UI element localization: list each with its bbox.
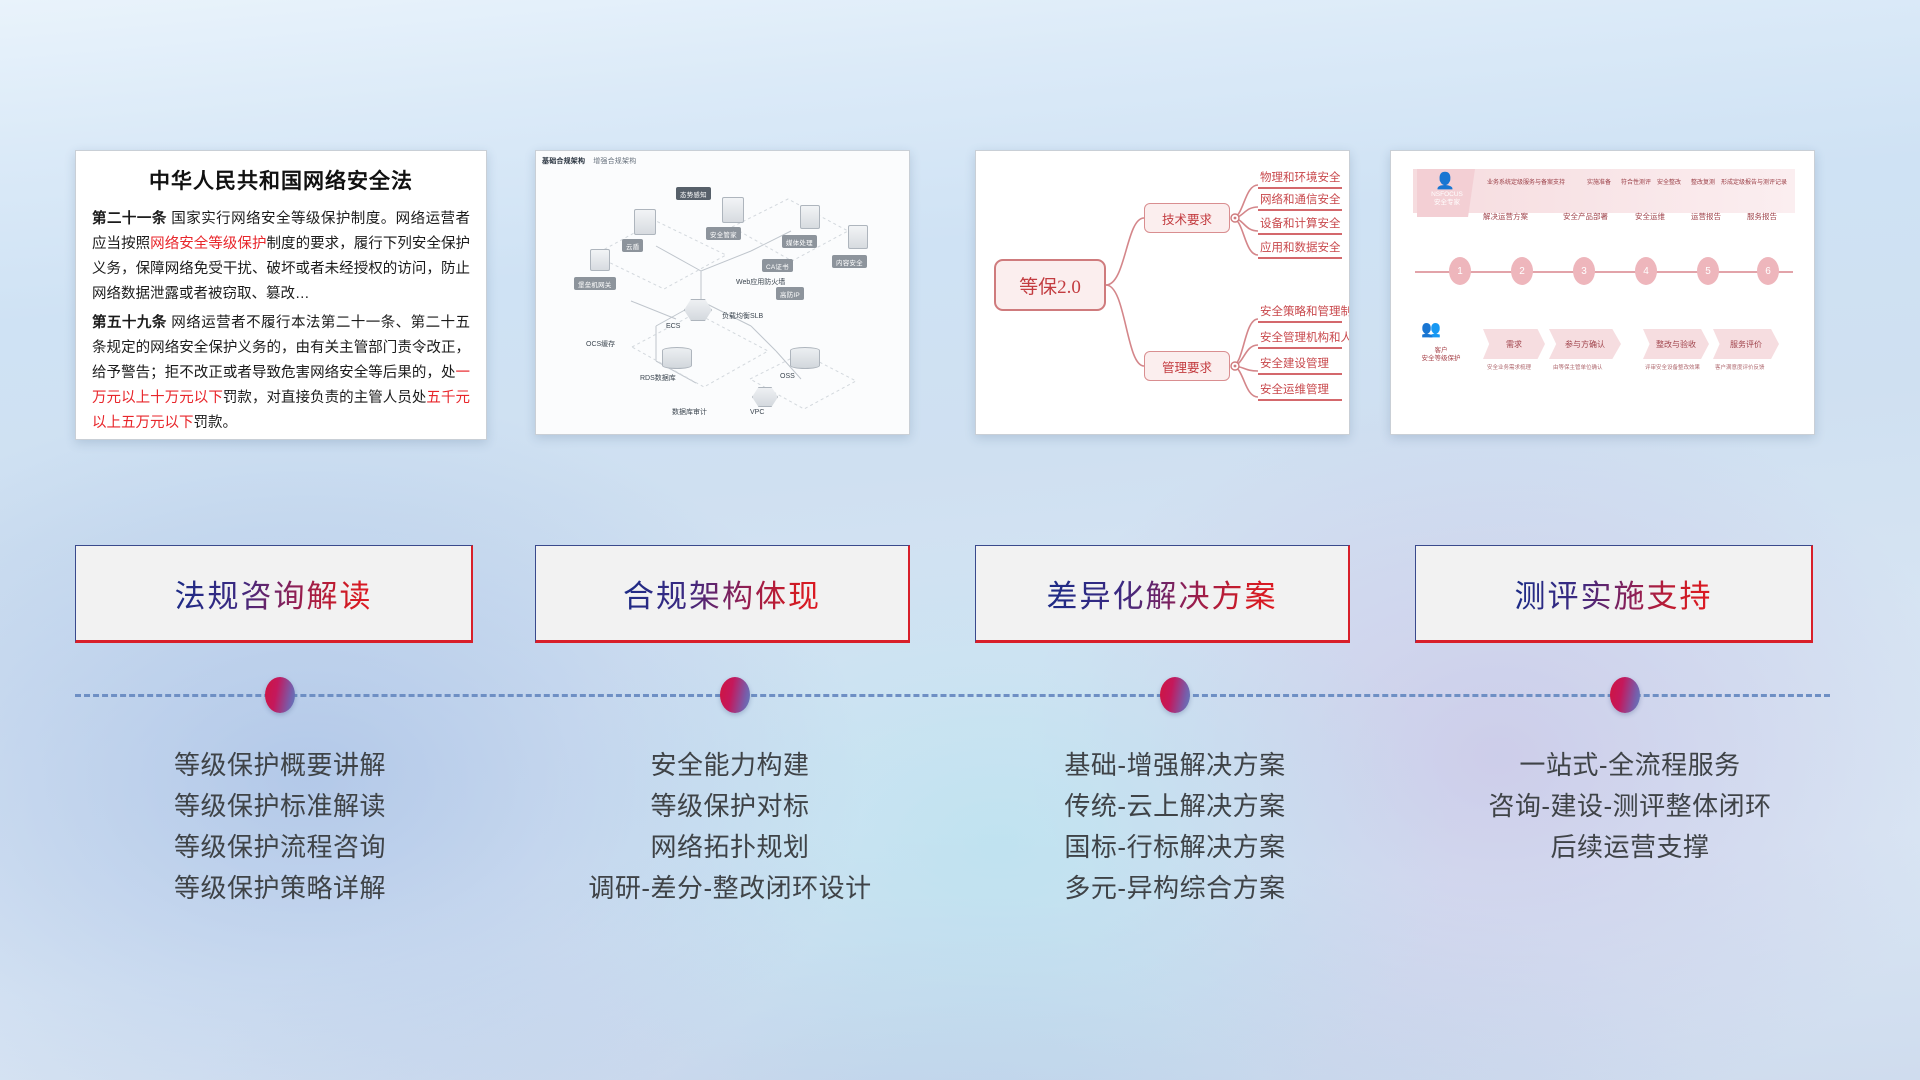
roadmap-top-header: 实施准备 bbox=[1587, 177, 1611, 186]
architecture-node-label: 负载均衡SLB bbox=[722, 311, 763, 321]
mindmap-leaf: 安全建设管理 bbox=[1260, 359, 1329, 371]
headline-label-1: 法规咨询解读 bbox=[175, 571, 373, 616]
roadmap-stage-label: 安全产品部署 bbox=[1563, 211, 1608, 222]
mindmap-root-node: 等保2.0 bbox=[994, 259, 1106, 311]
headline-label-4: 测评实施支持 bbox=[1515, 571, 1713, 616]
roadmap-step-number: 6 bbox=[1757, 257, 1779, 285]
roadmap-chevron-sub: 客户满意度评价反馈 bbox=[1715, 363, 1765, 371]
roadmap-chevron-sub: 评审安全设备整改效果 bbox=[1645, 363, 1700, 371]
roadmap-step-number: 1 bbox=[1449, 257, 1471, 285]
law-article-59-text-after: 罚款。 bbox=[194, 415, 238, 431]
mindmap-leaf: 物理和环境安全 bbox=[1260, 173, 1341, 185]
timeline-dot-4[interactable] bbox=[1610, 677, 1640, 713]
headline-label-3: 差异化解决方案 bbox=[1047, 571, 1278, 616]
timeline-dashed-line bbox=[75, 694, 1830, 697]
timeline-dot-3[interactable] bbox=[1160, 677, 1190, 713]
timeline-dot-2[interactable] bbox=[720, 677, 750, 713]
architecture-tab-active: 基础合规架构 bbox=[542, 158, 585, 165]
list-item: 等级保护流程咨询 bbox=[60, 827, 500, 868]
person-icon: 👤 bbox=[1435, 171, 1455, 191]
mindmap-leaf-underline bbox=[1258, 187, 1342, 189]
detail-column-4: 一站式-全流程服务 咨询-建设-测评整体闭环 后续运营支撑 bbox=[1400, 745, 1860, 868]
roadmap-chevron-sub: 由等保主管单位确认 bbox=[1553, 363, 1603, 371]
mindmap: 等保2.0 技术要求 管理要求 物理和环境安全 网络和通信安全 设备和计算安全 … bbox=[976, 151, 1349, 434]
list-item: 等级保护标准解读 bbox=[60, 786, 500, 827]
mindmap-leaf: 安全策略和管理制度 bbox=[1260, 307, 1350, 319]
architecture-chip bbox=[722, 197, 744, 223]
timeline bbox=[75, 694, 1830, 698]
list-item: 一站式-全流程服务 bbox=[1400, 745, 1860, 786]
roadmap-chevron: 需求 bbox=[1483, 329, 1545, 359]
mindmap-leaf: 安全管理机构和人员 bbox=[1260, 333, 1350, 345]
mindmap-leaf: 安全运维管理 bbox=[1260, 385, 1329, 397]
headline-box-4[interactable]: 测评实施支持 bbox=[1415, 545, 1813, 643]
list-item: 咨询-建设-测评整体闭环 bbox=[1400, 786, 1860, 827]
architecture-node-tag: 安全管家 bbox=[706, 227, 741, 240]
law-article-21-highlight: 网络安全等级保护 bbox=[150, 236, 266, 252]
list-item: 安全能力构建 bbox=[510, 745, 950, 786]
law-card-body: 中华人民共和国网络安全法 第二十一条 国家实行网络安全等级保护制度。网络运营者应… bbox=[76, 151, 486, 440]
law-article-21-number: 第二十一条 bbox=[92, 211, 167, 227]
architecture-node-tag: CA证书 bbox=[762, 259, 793, 272]
roadmap-chevron: 参与方确认 bbox=[1549, 329, 1621, 359]
mindmap-leaf-underline bbox=[1258, 399, 1342, 401]
roadmap-brand: NSFOCUS 安全专家 bbox=[1421, 191, 1473, 207]
roadmap-step-number: 2 bbox=[1511, 257, 1533, 285]
headline-label-2: 合规架构体现 bbox=[623, 571, 821, 616]
roadmap-brand-name: NSFOCUS bbox=[1431, 191, 1463, 198]
roadmap-persona-client: 客户 安全等级保护 bbox=[1413, 347, 1469, 363]
architecture-db-node bbox=[662, 347, 692, 369]
architecture-node-tag: 媒体处理 bbox=[782, 235, 817, 248]
roadmap-top-header: 整改复测 bbox=[1691, 177, 1715, 186]
list-item: 多元-异构综合方案 bbox=[955, 868, 1395, 909]
mindmap-leaf: 设备和计算安全 bbox=[1260, 219, 1341, 231]
architecture-node-label: OCS缓存 bbox=[586, 339, 615, 349]
roadmap-chevron: 服务评价 bbox=[1713, 329, 1779, 359]
detail-column-3: 基础-增强解决方案 传统-云上解决方案 国标-行标解决方案 多元-异构综合方案 bbox=[955, 745, 1395, 909]
law-article-59-text-mid: 罚款，对直接负责的主管人员处 bbox=[223, 390, 427, 406]
roadmap-axis bbox=[1415, 271, 1793, 273]
roadmap-top-header: 符合性测评 bbox=[1621, 177, 1651, 186]
architecture-chip bbox=[800, 205, 820, 229]
roadmap-brand-sub: 安全专家 bbox=[1434, 199, 1460, 206]
roadmap-chevron: 整改与验收 bbox=[1643, 329, 1709, 359]
roadmap-step-number: 4 bbox=[1635, 257, 1657, 285]
law-article-21: 第二十一条 国家实行网络安全等级保护制度。网络运营者应当按照网络安全等级保护制度… bbox=[92, 207, 470, 307]
architecture-node-label: VPC bbox=[750, 409, 764, 416]
roadmap-chevron-sub: 安全业务需求梳理 bbox=[1487, 363, 1531, 371]
roadmap-diagram: 👤 NSFOCUS 安全专家 业务系统定级服务与备案支持 实施准备 符合性测评 … bbox=[1391, 151, 1814, 434]
architecture-node-tag: 高防IP bbox=[776, 287, 804, 300]
architecture-node-label: ECS bbox=[666, 323, 680, 330]
mindmap-branch-technical: 技术要求 bbox=[1144, 203, 1230, 233]
list-item: 传统-云上解决方案 bbox=[955, 786, 1395, 827]
list-item: 等级保护对标 bbox=[510, 786, 950, 827]
roadmap-step-number: 3 bbox=[1573, 257, 1595, 285]
architecture-node-tag: 态势感知 bbox=[676, 187, 711, 200]
roadmap-stage-label: 解决运营方案 bbox=[1483, 211, 1528, 222]
client-icon: 👥 bbox=[1421, 319, 1441, 339]
list-item: 等级保护策略详解 bbox=[60, 868, 500, 909]
mindmap-leaf-underline bbox=[1258, 257, 1342, 259]
mindmap-leaf-underline bbox=[1258, 373, 1342, 375]
roadmap-top-header: 形成定级报告与测评记录 bbox=[1721, 177, 1787, 186]
architecture-diagram: 基础合规架构增强合规架构 bbox=[536, 151, 909, 434]
law-card-title: 中华人民共和国网络安全法 bbox=[92, 165, 470, 195]
mindmap-leaf-underline bbox=[1258, 321, 1342, 323]
mindmap-leaf: 应用和数据安全 bbox=[1260, 243, 1341, 255]
roadmap-stage-label: 安全运维 bbox=[1635, 211, 1665, 222]
mindmap-card: 等保2.0 技术要求 管理要求 物理和环境安全 网络和通信安全 设备和计算安全 … bbox=[975, 150, 1350, 435]
mindmap-leaf: 网络和通信安全 bbox=[1260, 195, 1341, 207]
headline-box-3[interactable]: 差异化解决方案 bbox=[975, 545, 1350, 643]
architecture-db-node bbox=[790, 347, 820, 369]
architecture-diagram-card: 基础合规架构增强合规架构 bbox=[535, 150, 910, 435]
reference-card-row: 中华人民共和国网络安全法 第二十一条 国家实行网络安全等级保护制度。网络运营者应… bbox=[0, 150, 1920, 440]
headline-box-1[interactable]: 法规咨询解读 bbox=[75, 545, 473, 643]
architecture-chip bbox=[634, 209, 656, 235]
law-text-card: 中华人民共和国网络安全法 第二十一条 国家实行网络安全等级保护制度。网络运营者应… bbox=[75, 150, 487, 440]
detail-column-2: 安全能力构建 等级保护对标 网络拓扑规划 调研-差分-整改闭环设计 bbox=[510, 745, 950, 909]
roadmap-stage-label: 服务报告 bbox=[1747, 211, 1777, 222]
list-item: 网络拓扑规划 bbox=[510, 827, 950, 868]
mindmap-branch-management: 管理要求 bbox=[1144, 351, 1230, 381]
list-item: 国标-行标解决方案 bbox=[955, 827, 1395, 868]
detail-column-1: 等级保护概要讲解 等级保护标准解读 等级保护流程咨询 等级保护策略详解 bbox=[60, 745, 500, 909]
roadmap-top-header: 业务系统定级服务与备案支持 bbox=[1487, 177, 1565, 186]
roadmap-stage-label: 运营报告 bbox=[1691, 211, 1721, 222]
roadmap-persona-sub: 安全等级保护 bbox=[1422, 355, 1461, 362]
architecture-node-tag: 内容安全 bbox=[832, 255, 867, 268]
architecture-chip bbox=[590, 249, 610, 271]
roadmap-persona-name: 客户 bbox=[1435, 347, 1448, 354]
architecture-node-tag: 云盾 bbox=[622, 239, 643, 252]
list-item: 基础-增强解决方案 bbox=[955, 745, 1395, 786]
roadmap-step-number: 5 bbox=[1697, 257, 1719, 285]
list-item: 等级保护概要讲解 bbox=[60, 745, 500, 786]
mindmap-leaf-underline bbox=[1258, 233, 1342, 235]
architecture-connectors bbox=[536, 151, 910, 435]
law-article-59: 第五十九条 网络运营者不履行本法第二十一条、第二十五条规定的网络安全保护义务的，… bbox=[92, 311, 470, 436]
roadmap-card: 👤 NSFOCUS 安全专家 业务系统定级服务与备案支持 实施准备 符合性测评 … bbox=[1390, 150, 1815, 435]
architecture-tab-inactive: 增强合规架构 bbox=[593, 158, 636, 165]
architecture-node-label: 数据库审计 bbox=[672, 407, 707, 417]
architecture-node-tag: 堡垒机网关 bbox=[574, 277, 616, 290]
mindmap-leaf-underline bbox=[1258, 347, 1342, 349]
architecture-node-label: RDS数据库 bbox=[640, 373, 676, 383]
mindmap-leaf-underline bbox=[1258, 209, 1342, 211]
list-item: 后续运营支撑 bbox=[1400, 827, 1860, 868]
architecture-node-label: OSS bbox=[780, 373, 795, 380]
slide-canvas: 中华人民共和国网络安全法 第二十一条 国家实行网络安全等级保护制度。网络运营者应… bbox=[0, 0, 1920, 1080]
list-item: 调研-差分-整改闭环设计 bbox=[510, 868, 950, 909]
law-article-59-number: 第五十九条 bbox=[92, 315, 167, 331]
timeline-dot-1[interactable] bbox=[265, 677, 295, 713]
roadmap-top-header: 安全整改 bbox=[1657, 177, 1681, 186]
architecture-tabs: 基础合规架构增强合规架构 bbox=[542, 156, 636, 166]
headline-box-2[interactable]: 合规架构体现 bbox=[535, 545, 910, 643]
architecture-chip bbox=[848, 225, 868, 249]
architecture-node-label: Web应用防火墙 bbox=[736, 277, 785, 287]
